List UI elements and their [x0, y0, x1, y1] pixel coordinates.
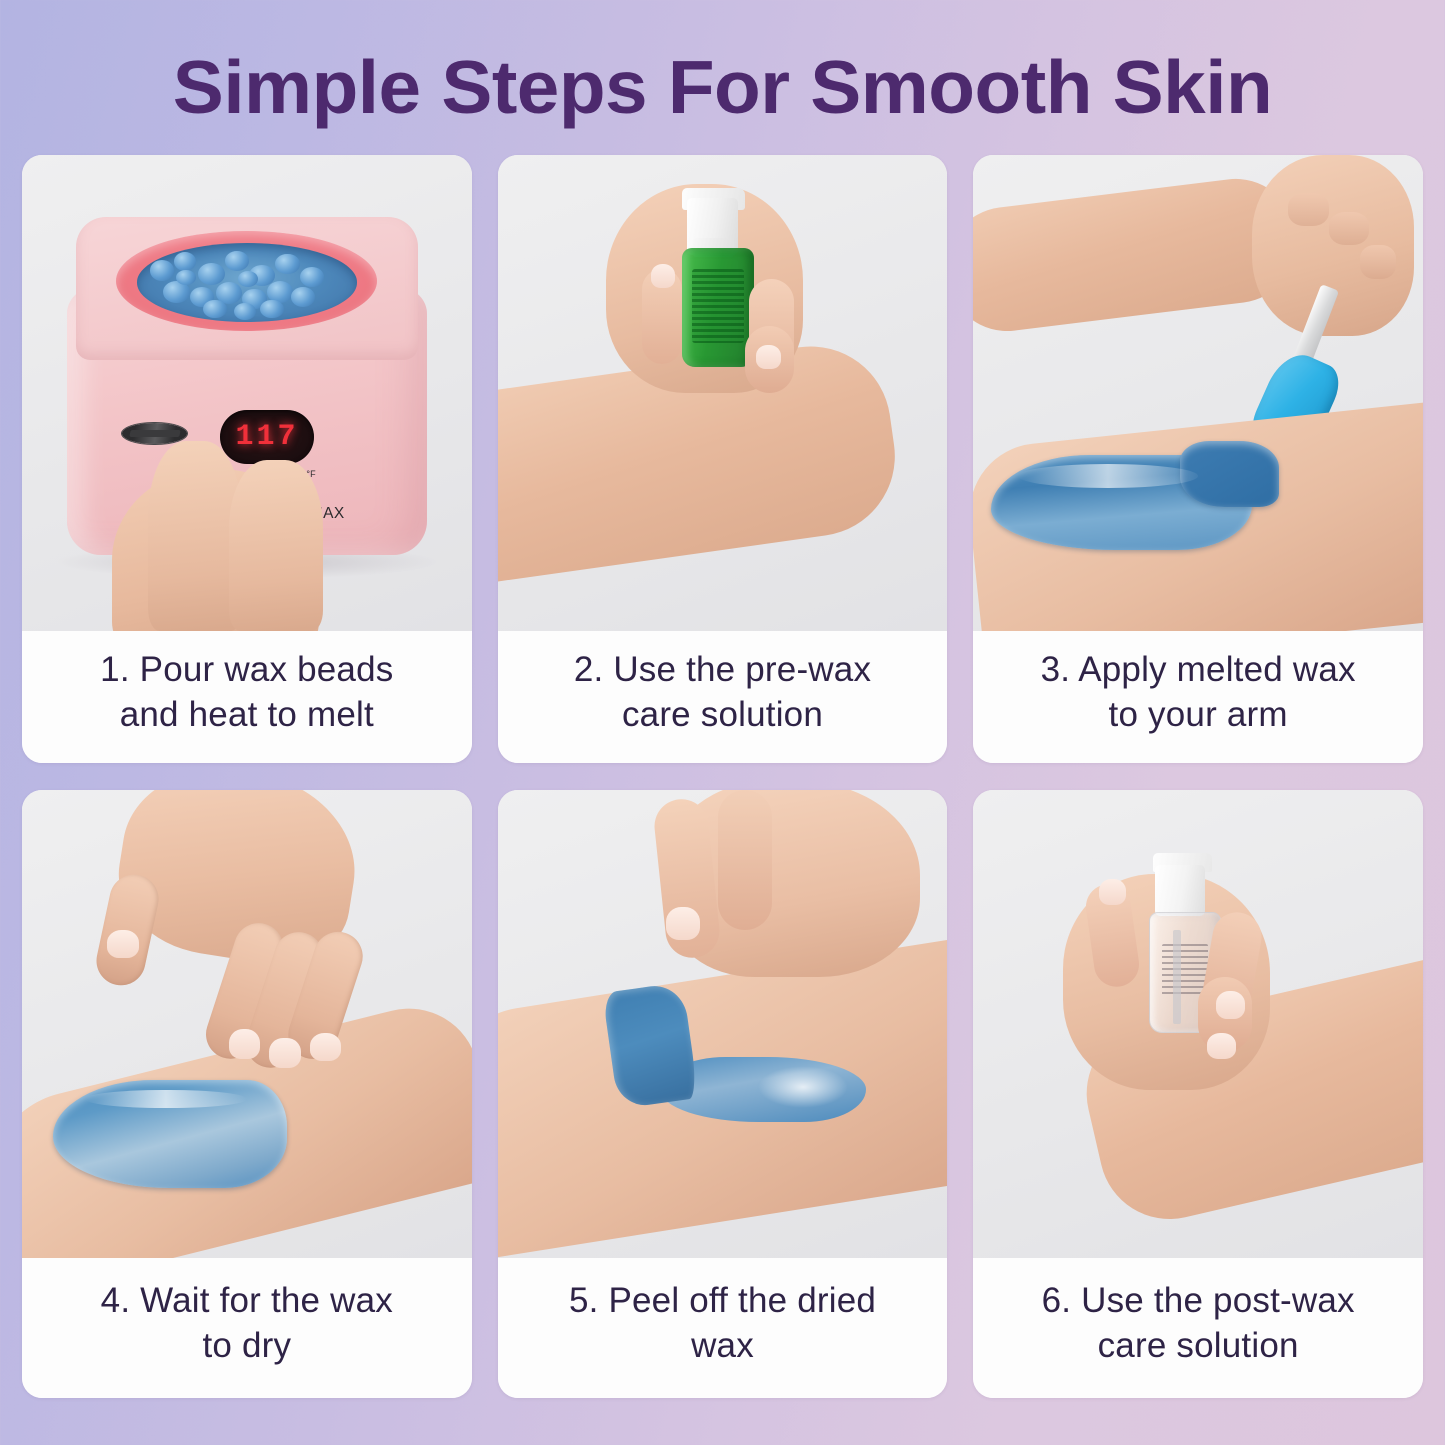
- fingernail: [756, 345, 781, 369]
- spray-pump-cap: [1155, 865, 1204, 916]
- step-caption-5: 5. Peel off the dried wax: [498, 1258, 948, 1398]
- fingernail: [666, 907, 700, 940]
- pre-wax-spray-bottle: [682, 248, 754, 367]
- step-photo-5: [498, 790, 948, 1258]
- step-caption-6: 6. Use the post-wax care solution: [973, 1258, 1423, 1398]
- caption-line-1: 5. Peel off the dried: [569, 1281, 876, 1320]
- caption-line-1: 4. Wait for the wax: [101, 1281, 393, 1320]
- fingernail: [1216, 991, 1245, 1019]
- caption-line-2: wax: [691, 1326, 754, 1365]
- step-photo-6: [973, 790, 1423, 1258]
- step-card-1[interactable]: 117 Temperature°F OFF MAX 1. Pour wax be…: [22, 155, 472, 763]
- temperature-value: 117: [236, 420, 299, 454]
- temperature-display: 117: [220, 410, 314, 465]
- fingernail: [310, 1033, 341, 1061]
- fingernail: [1207, 1033, 1236, 1059]
- step-photo-2: [498, 155, 948, 631]
- dip-tube: [1173, 930, 1180, 1024]
- fingernail: [651, 264, 676, 288]
- caption-line-2: care solution: [1098, 1326, 1299, 1365]
- wax-highlight: [85, 1090, 247, 1109]
- caption-line-2: and heat to melt: [120, 695, 374, 734]
- step-caption-4: 4. Wait for the wax to dry: [22, 1258, 472, 1398]
- step-photo-1: 117 Temperature°F OFF MAX: [22, 155, 472, 631]
- finger: [718, 790, 772, 930]
- caption-line-1: 3. Apply melted wax: [1041, 650, 1356, 689]
- step-caption-3: 3. Apply melted wax to your arm: [973, 631, 1423, 763]
- step-card-3[interactable]: 3. Apply melted wax to your arm: [973, 155, 1423, 763]
- page-title: Simple Steps For Smooth Skin: [0, 0, 1445, 125]
- bottle-label: [692, 269, 744, 343]
- wax-bead-pot: [137, 243, 357, 322]
- fingernail: [1099, 879, 1126, 905]
- step-card-2[interactable]: 2. Use the pre-wax care solution: [498, 155, 948, 763]
- step-photo-4: [22, 790, 472, 1258]
- knuckle: [1360, 245, 1396, 278]
- finger: [229, 460, 323, 631]
- caption-line-2: to your arm: [1109, 695, 1288, 734]
- fingernail: [107, 930, 138, 958]
- step-card-6[interactable]: 6. Use the post-wax care solution: [973, 790, 1423, 1398]
- hand-holding-spatula: [1252, 155, 1414, 336]
- step-card-4[interactable]: 4. Wait for the wax to dry: [22, 790, 472, 1398]
- step-caption-2: 2. Use the pre-wax care solution: [498, 631, 948, 763]
- fingernail: [229, 1029, 260, 1059]
- caption-line-2: care solution: [622, 695, 823, 734]
- step-photo-3: [973, 155, 1423, 631]
- caption-line-1: 1. Pour wax beads: [100, 650, 393, 689]
- knuckle: [1288, 193, 1328, 226]
- caption-line-1: 6. Use the post-wax: [1042, 1281, 1355, 1320]
- caption-line-2: to dry: [202, 1326, 291, 1365]
- step-card-5[interactable]: 5. Peel off the dried wax: [498, 790, 948, 1398]
- step-caption-1: 1. Pour wax beads and heat to melt: [22, 631, 472, 763]
- knuckle: [1329, 212, 1369, 245]
- caption-line-1: 2. Use the pre-wax: [574, 650, 871, 689]
- fingernail: [269, 1038, 300, 1068]
- steps-grid: 117 Temperature°F OFF MAX 1. Pour wax be…: [0, 155, 1445, 1420]
